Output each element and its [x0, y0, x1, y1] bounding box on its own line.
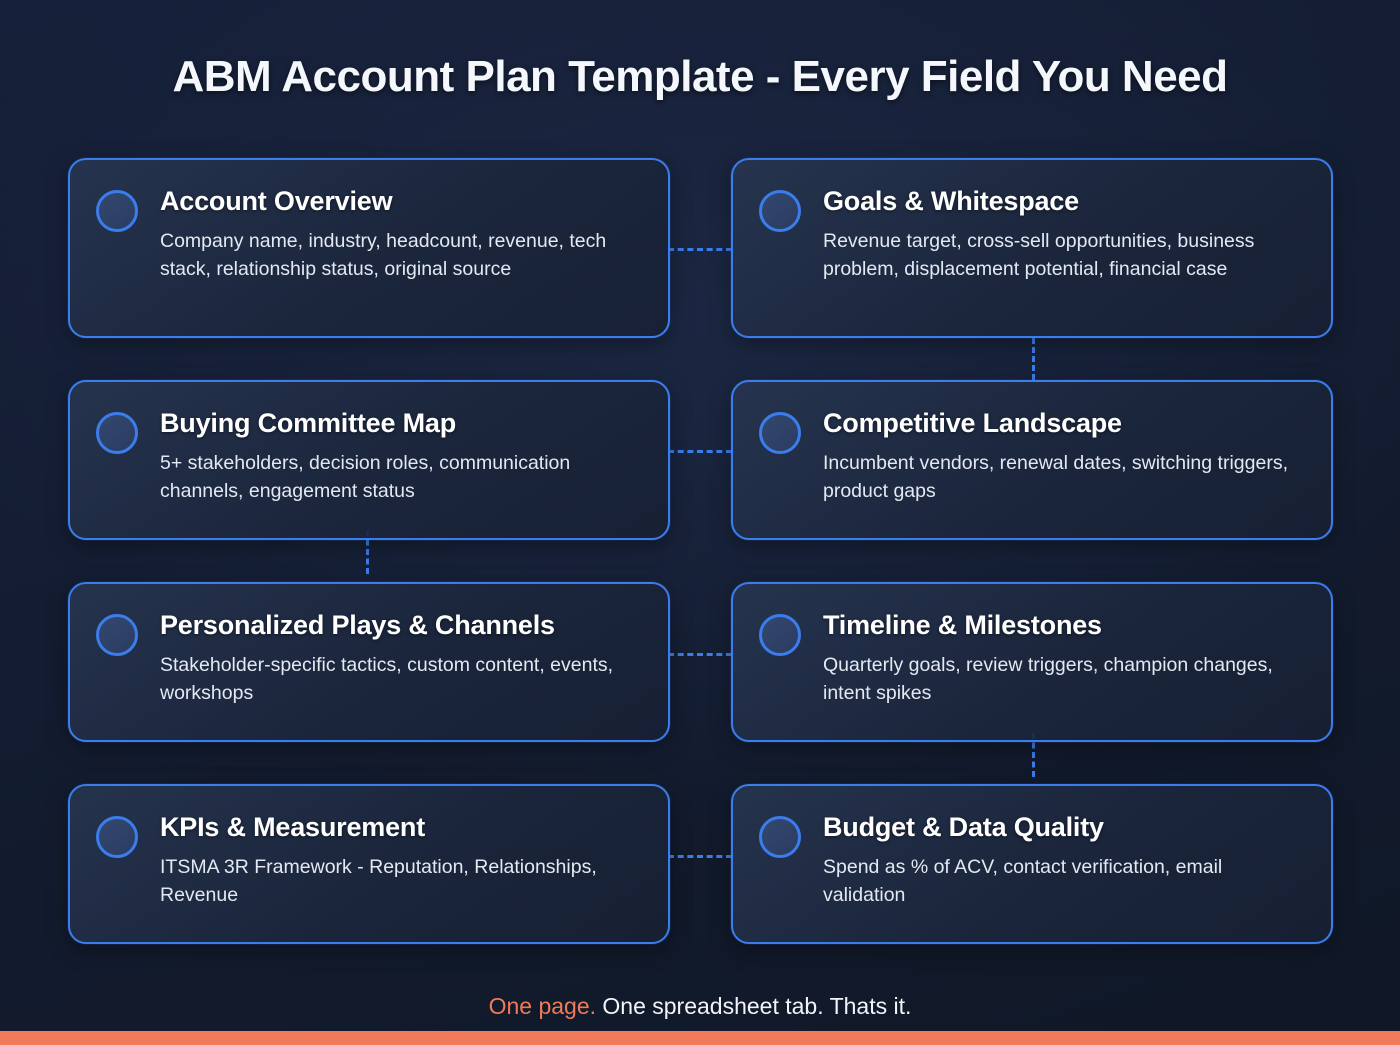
card-buying-committee-map[interactable]: Buying Committee Map 5+ stakeholders, de… [68, 380, 670, 540]
card-title: Timeline & Milestones [823, 610, 1303, 641]
card-title: Account Overview [160, 186, 640, 217]
card-description: ITSMA 3R Framework - Reputation, Relatio… [160, 853, 640, 910]
card-account-overview[interactable]: Account Overview Company name, industry,… [68, 158, 670, 338]
card-body: Account Overview Company name, industry,… [160, 186, 640, 284]
card-title: Personalized Plays & Channels [160, 610, 640, 641]
circle-outline-icon [96, 614, 138, 656]
circle-outline-icon [759, 816, 801, 858]
footer-rest-text: One spreadsheet tab. Thats it. [596, 993, 911, 1019]
card-description: Company name, industry, headcount, reven… [160, 227, 640, 284]
card-body: Budget & Data Quality Spend as % of ACV,… [823, 812, 1303, 910]
card-title: Goals & Whitespace [823, 186, 1303, 217]
card-grid: Account Overview Company name, industry,… [68, 158, 1333, 944]
card-description: Spend as % of ACV, contact verification,… [823, 853, 1303, 910]
card-timeline-milestones[interactable]: Timeline & Milestones Quarterly goals, r… [731, 582, 1333, 742]
card-title: Competitive Landscape [823, 408, 1303, 439]
card-description: 5+ stakeholders, decision roles, communi… [160, 449, 640, 506]
circle-outline-icon [96, 412, 138, 454]
card-description: Stakeholder-specific tactics, custom con… [160, 651, 640, 708]
card-goals-whitespace[interactable]: Goals & Whitespace Revenue target, cross… [731, 158, 1333, 338]
card-description: Quarterly goals, review triggers, champi… [823, 651, 1303, 708]
circle-outline-icon [759, 190, 801, 232]
bottom-accent-bar [0, 1031, 1400, 1045]
card-description: Revenue target, cross-sell opportunities… [823, 227, 1303, 284]
card-body: Goals & Whitespace Revenue target, cross… [823, 186, 1303, 284]
footer-accent-text: One page. [489, 993, 596, 1019]
card-body: Timeline & Milestones Quarterly goals, r… [823, 610, 1303, 708]
card-personalized-plays-channels[interactable]: Personalized Plays & Channels Stakeholde… [68, 582, 670, 742]
card-description: Incumbent vendors, renewal dates, switch… [823, 449, 1303, 506]
card-title: Budget & Data Quality [823, 812, 1303, 843]
circle-outline-icon [759, 412, 801, 454]
card-budget-data-quality[interactable]: Budget & Data Quality Spend as % of ACV,… [731, 784, 1333, 944]
card-competitive-landscape[interactable]: Competitive Landscape Incumbent vendors,… [731, 380, 1333, 540]
card-title: Buying Committee Map [160, 408, 640, 439]
card-body: Competitive Landscape Incumbent vendors,… [823, 408, 1303, 506]
circle-outline-icon [759, 614, 801, 656]
card-body: Buying Committee Map 5+ stakeholders, de… [160, 408, 640, 506]
card-kpis-measurement[interactable]: KPIs & Measurement ITSMA 3R Framework - … [68, 784, 670, 944]
footer-tagline: One page. One spreadsheet tab. Thats it. [0, 993, 1400, 1020]
card-body: Personalized Plays & Channels Stakeholde… [160, 610, 640, 708]
page-title: ABM Account Plan Template - Every Field … [0, 52, 1400, 102]
circle-outline-icon [96, 190, 138, 232]
circle-outline-icon [96, 816, 138, 858]
card-title: KPIs & Measurement [160, 812, 640, 843]
card-body: KPIs & Measurement ITSMA 3R Framework - … [160, 812, 640, 910]
